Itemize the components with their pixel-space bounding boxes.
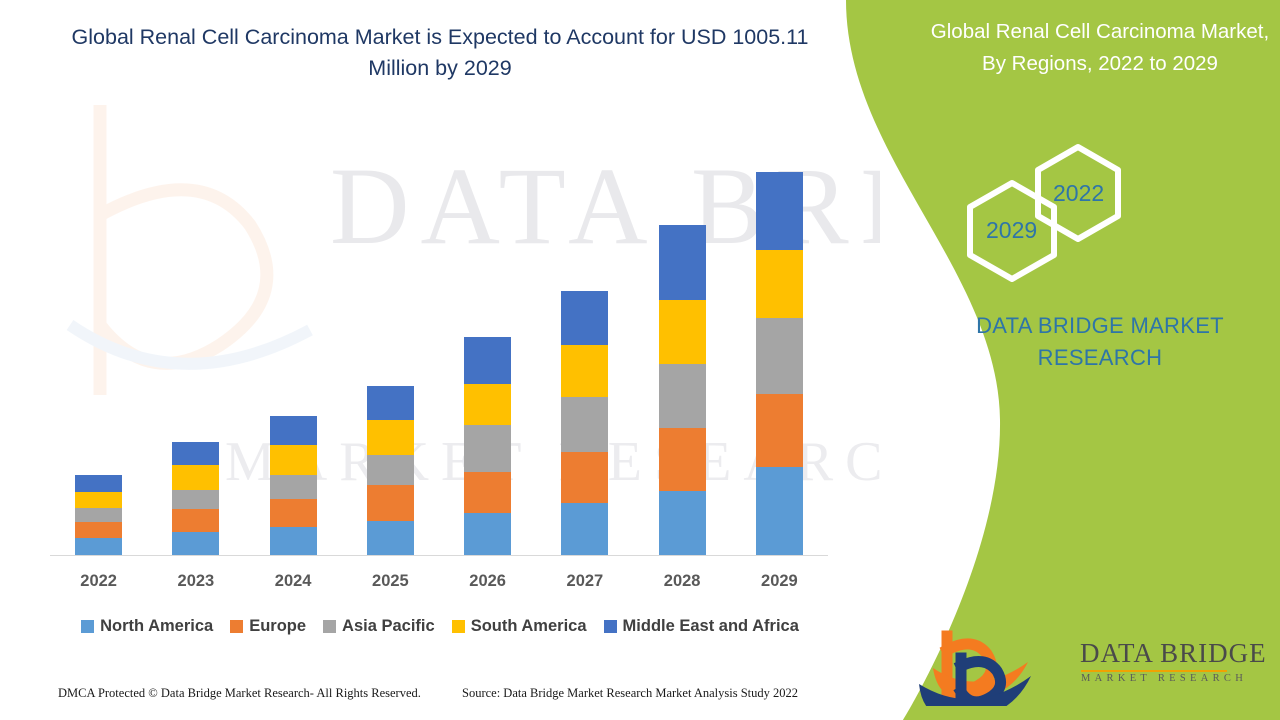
bar-2028[interactable]: [659, 225, 706, 555]
bar-segment-middle-east-and-africa: [75, 475, 122, 492]
legend-item-south-america[interactable]: South America: [452, 617, 587, 636]
bar-2029[interactable]: [756, 172, 803, 555]
bar-segment-north-america: [464, 513, 511, 555]
bar-segment-north-america: [367, 521, 414, 555]
legend-label: Europe: [249, 617, 306, 636]
brand-panel-title: Global Renal Cell Carcinoma Market, By R…: [920, 16, 1280, 80]
legend-label: Middle East and Africa: [623, 617, 799, 636]
bar-segment-north-america: [75, 538, 122, 555]
bar-segment-middle-east-and-africa: [270, 416, 317, 445]
x-axis-labels: 20222023202420252026202720282029: [50, 572, 828, 596]
bar-segment-south-america: [659, 300, 706, 364]
bar-segment-middle-east-and-africa: [659, 225, 706, 300]
bar-segment-asia-pacific: [464, 425, 511, 472]
chart-panel: DATA BRIDGE MARKET RESEARCH Global Renal…: [0, 0, 880, 720]
data-bridge-logo-icon: [885, 628, 1135, 706]
bar-segment-asia-pacific: [75, 508, 122, 521]
legend-swatch-icon: [604, 620, 617, 633]
chart-legend: North AmericaEuropeAsia PacificSouth Ame…: [0, 617, 880, 636]
bar-2026[interactable]: [464, 337, 511, 555]
bar-segment-asia-pacific: [561, 397, 608, 452]
x-axis-tick-2025: 2025: [350, 572, 430, 591]
hexagon-2022-shape: [1038, 147, 1118, 239]
bar-segment-asia-pacific: [172, 490, 219, 510]
plot-area: [50, 120, 828, 556]
legend-label: Asia Pacific: [342, 617, 435, 636]
bar-segment-north-america: [659, 491, 706, 555]
bar-segment-asia-pacific: [756, 318, 803, 394]
bar-segment-europe: [172, 509, 219, 532]
legend-swatch-icon: [323, 620, 336, 633]
bar-segment-europe: [75, 522, 122, 539]
bar-segment-south-america: [75, 492, 122, 509]
x-axis-tick-2027: 2027: [545, 572, 625, 591]
x-axis-tick-2028: 2028: [642, 572, 722, 591]
bar-segment-middle-east-and-africa: [561, 291, 608, 345]
logo-tagline: MARKET RESEARCH: [1081, 673, 1247, 684]
bar-segment-asia-pacific: [367, 455, 414, 485]
chart-title: Global Renal Cell Carcinoma Market is Ex…: [40, 22, 840, 84]
legend-swatch-icon: [452, 620, 465, 633]
legend-label: North America: [100, 617, 213, 636]
bar-segment-south-america: [367, 420, 414, 455]
x-axis-tick-2026: 2026: [448, 572, 528, 591]
bar-2025[interactable]: [367, 386, 414, 555]
x-axis-tick-2023: 2023: [156, 572, 236, 591]
legend-label: South America: [471, 617, 587, 636]
bar-segment-south-america: [172, 465, 219, 490]
bar-segment-europe: [367, 485, 414, 520]
bar-segment-north-america: [756, 467, 803, 555]
logo-divider: [1081, 670, 1227, 672]
bar-2024[interactable]: [270, 416, 317, 555]
x-axis-line: [50, 555, 828, 556]
footer: DMCA Protected © Data Bridge Market Rese…: [0, 680, 880, 710]
bar-segment-north-america: [561, 503, 608, 555]
bar-segment-middle-east-and-africa: [367, 386, 414, 420]
bar-segment-europe: [756, 394, 803, 467]
x-axis-tick-2022: 2022: [59, 572, 139, 591]
legend-item-asia-pacific[interactable]: Asia Pacific: [323, 617, 435, 636]
bar-2023[interactable]: [172, 442, 219, 555]
bar-segment-south-america: [756, 250, 803, 319]
bar-segment-south-america: [464, 384, 511, 426]
legend-swatch-icon: [81, 620, 94, 633]
bar-2022[interactable]: [75, 475, 122, 555]
legend-item-north-america[interactable]: North America: [81, 617, 213, 636]
bar-segment-asia-pacific: [270, 475, 317, 499]
footer-source: Source: Data Bridge Market Research Mark…: [462, 686, 798, 701]
hexagon-year-2022: 2022: [1053, 180, 1104, 207]
bar-segment-middle-east-and-africa: [464, 337, 511, 384]
bar-segment-europe: [464, 472, 511, 514]
bar-segment-north-america: [270, 527, 317, 555]
legend-item-europe[interactable]: Europe: [230, 617, 306, 636]
bar-segment-europe: [561, 452, 608, 503]
legend-swatch-icon: [230, 620, 243, 633]
brand-name-line2: RESEARCH: [1038, 345, 1163, 370]
hexagon-badges: 2022 2029: [950, 135, 1180, 295]
bar-segment-north-america: [172, 532, 219, 555]
legend-item-middle-east-and-africa[interactable]: Middle East and Africa: [604, 617, 799, 636]
bar-segment-middle-east-and-africa: [756, 172, 803, 250]
bar-segment-asia-pacific: [659, 364, 706, 428]
logo-wordmark: DATA BRIDGE: [1080, 638, 1267, 669]
footer-copyright: DMCA Protected © Data Bridge Market Rese…: [58, 686, 421, 701]
bar-segment-middle-east-and-africa: [172, 442, 219, 465]
bar-segment-europe: [270, 499, 317, 527]
x-axis-tick-2024: 2024: [253, 572, 333, 591]
hexagon-2029-shape: [970, 183, 1054, 279]
bar-segment-south-america: [270, 445, 317, 475]
brand-name: DATA BRIDGE MARKET RESEARCH: [935, 310, 1265, 374]
bar-2027[interactable]: [561, 291, 608, 555]
x-axis-tick-2029: 2029: [739, 572, 819, 591]
bar-segment-south-america: [561, 345, 608, 397]
bar-segment-europe: [659, 428, 706, 490]
hexagon-year-2029: 2029: [986, 217, 1037, 244]
brand-name-line1: DATA BRIDGE MARKET: [976, 313, 1224, 338]
